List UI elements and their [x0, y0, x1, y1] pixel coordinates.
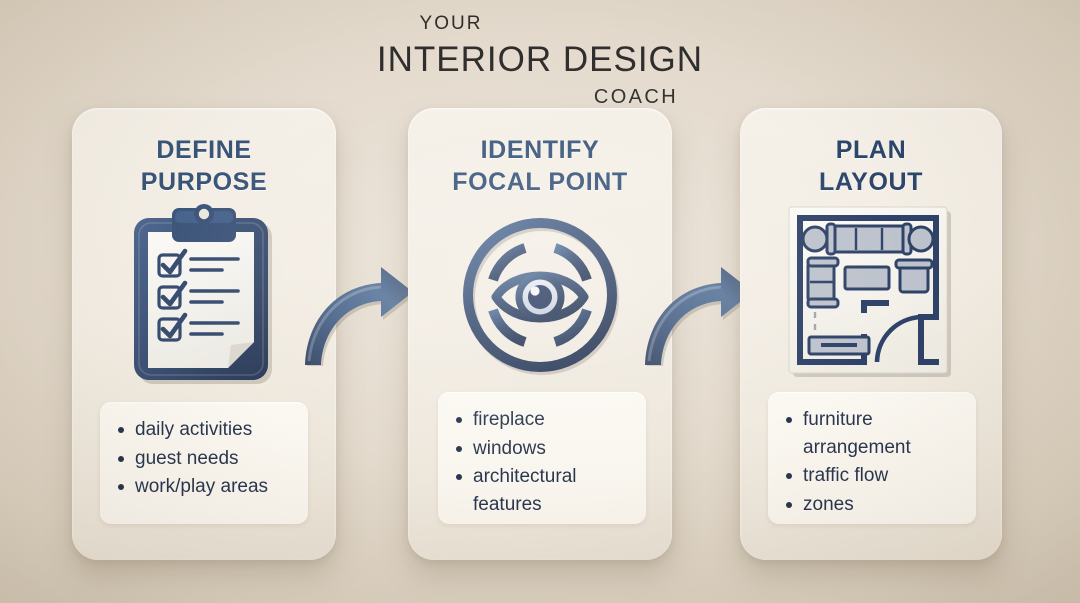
card-title-plan-layout: PLAN LAYOUT	[740, 134, 1002, 198]
list-item: fireplace	[452, 406, 636, 434]
target-eye-icon	[408, 200, 672, 390]
curved-arrow-right-icon	[640, 258, 756, 366]
card-title-line-2: FOCAL POINT	[408, 166, 672, 198]
card-title-line-1: PLAN	[740, 134, 1002, 166]
bullet-box-identify-focal-point: fireplace windows architectural features	[438, 392, 646, 524]
list-item: furniture arrangement	[782, 406, 966, 461]
step-card-plan-layout[interactable]: PLAN LAYOUT	[740, 108, 1002, 560]
list-item: architectural features	[452, 463, 636, 518]
header-line-interior-design: INTERIOR DESIGN	[0, 42, 1080, 77]
bullet-box-define-purpose: daily activities guest needs work/play a…	[100, 402, 308, 524]
bullet-box-plan-layout: furniture arrangement traffic flow zones	[768, 392, 976, 524]
list-item: windows	[452, 435, 636, 463]
curved-arrow-2-svg	[640, 258, 756, 366]
card-title-identify-focal-point: IDENTIFY FOCAL POINT	[408, 134, 672, 198]
card-title-line-1: DEFINE	[72, 134, 336, 166]
target-eye-svg	[451, 202, 629, 388]
list-item: traffic flow	[782, 462, 966, 490]
bullet-list-define-purpose: daily activities guest needs work/play a…	[114, 416, 298, 501]
curved-arrow-right-icon	[300, 258, 416, 366]
infographic-canvas: YOUR INTERIOR DESIGN COACH DEFINE PURPOS…	[0, 0, 1080, 603]
card-title-define-purpose: DEFINE PURPOSE	[72, 134, 336, 198]
bullet-list-plan-layout: furniture arrangement traffic flow zones	[782, 406, 966, 518]
card-title-line-2: PURPOSE	[72, 166, 336, 198]
step-card-identify-focal-point[interactable]: IDENTIFY FOCAL POINT	[408, 108, 672, 560]
list-item: daily activities	[114, 416, 298, 444]
step-card-define-purpose[interactable]: DEFINE PURPOSE	[72, 108, 336, 560]
list-item: guest needs	[114, 445, 298, 473]
bullet-list-identify-focal-point: fireplace windows architectural features	[452, 406, 636, 518]
list-item: zones	[782, 491, 966, 519]
list-item: work/play areas	[114, 473, 298, 501]
clipboard-checklist-icon	[72, 200, 336, 390]
header-line-coach: COACH	[192, 87, 1080, 107]
header-line-your: YOUR	[0, 14, 1080, 33]
card-title-line-1: IDENTIFY	[408, 134, 672, 166]
floor-plan-icon	[740, 194, 1002, 390]
brand-header: YOUR INTERIOR DESIGN COACH	[0, 14, 1080, 107]
curved-arrow-1-svg	[300, 258, 416, 366]
floor-plan-svg	[781, 197, 961, 387]
clipboard-checklist-svg	[128, 202, 280, 388]
